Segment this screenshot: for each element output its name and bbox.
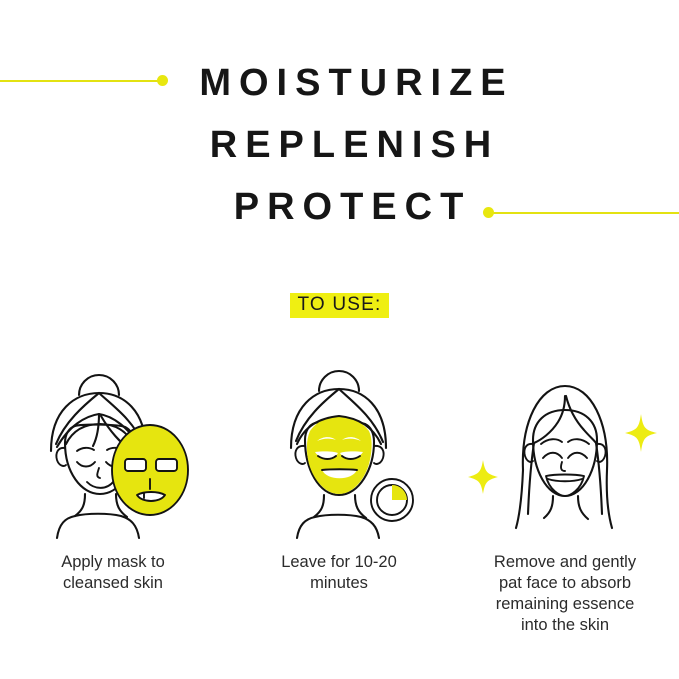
step-1-caption-line-1: Apply mask to (13, 552, 213, 573)
step-1: Apply mask to cleansed skin (0, 348, 226, 594)
step-3-caption-line-1: Remove and gently (465, 552, 665, 573)
headline-line-replenish: REPLENISH (22, 114, 679, 176)
step-2: Leave for 10-20 minutes (226, 348, 452, 594)
illustration-apply-mask (13, 348, 213, 538)
step-3-caption-line-3: remaining essence (465, 594, 665, 615)
step-2-caption-line-2: minutes (239, 573, 439, 594)
step-3-caption: Remove and gently pat face to absorb rem… (465, 552, 665, 636)
step-2-caption-line-1: Leave for 10-20 (239, 552, 439, 573)
headline-line-protect: PROTECT (18, 176, 679, 238)
step-3-caption-line-4: into the skin (465, 615, 665, 636)
to-use-section-header: TO USE: (0, 293, 679, 318)
headline-block: MOISTURIZE REPLENISH PROTECT (0, 52, 679, 238)
illustration-glowing-skin (465, 348, 665, 538)
step-2-caption: Leave for 10-20 minutes (239, 552, 439, 594)
illustration-leave-mask-on (239, 348, 439, 538)
step-3: Remove and gently pat face to absorb rem… (452, 348, 678, 636)
step-1-caption-line-2: cleansed skin (13, 573, 213, 594)
headline-line-moisturize: MOISTURIZE (26, 52, 679, 114)
step-3-caption-line-2: pat face to absorb (465, 573, 665, 594)
to-use-label: TO USE: (290, 293, 388, 318)
steps-row: Apply mask to cleansed skin (0, 348, 679, 636)
step-1-caption: Apply mask to cleansed skin (13, 552, 213, 594)
